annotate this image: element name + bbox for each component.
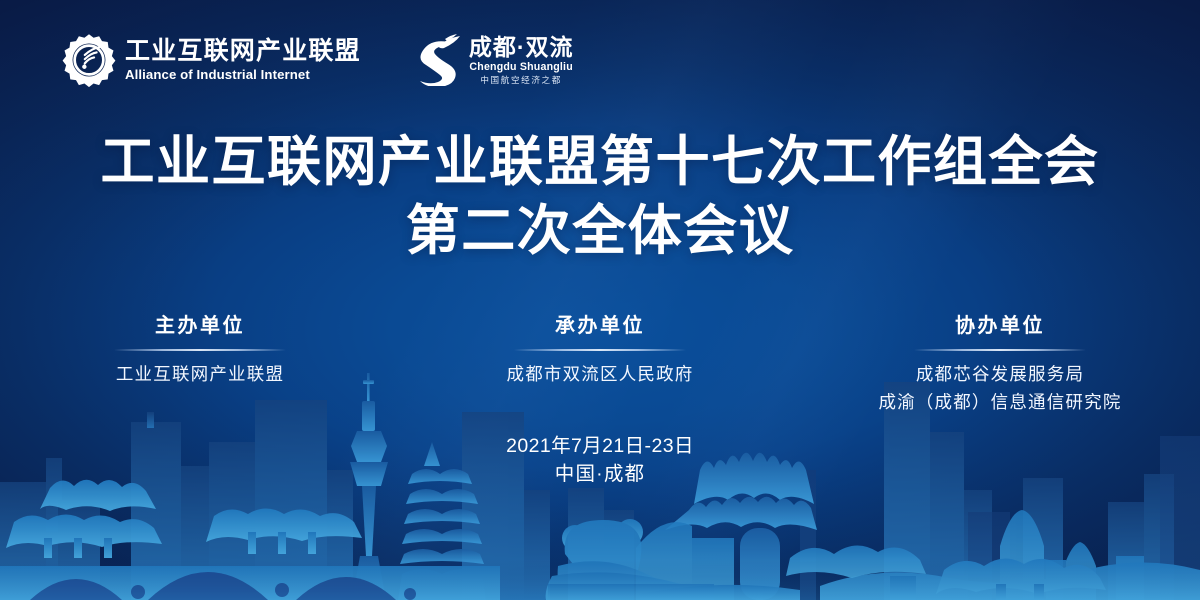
organizer-divider — [514, 349, 686, 351]
organizer-name: 成都市双流区人民政府 — [400, 360, 800, 388]
vignette-overlay — [0, 0, 1200, 600]
anshun-bridge-icon — [0, 566, 500, 600]
s-airplane-icon — [414, 34, 462, 86]
modern-highrises-icon — [636, 510, 1144, 600]
temple-roof-right-icon — [936, 558, 1106, 600]
panda-silhouette-icon — [546, 519, 731, 600]
organizer-column-co-organizer: 协办单位 成都芯谷发展服务局 成渝（成都）信息通信研究院 — [800, 314, 1200, 417]
organizer-divider — [914, 349, 1086, 351]
event-title-line-2: 第二次全体会议 — [0, 197, 1200, 266]
alliance-logo-cn: 工业互联网产业联盟 — [125, 39, 361, 64]
organizers-section: 主办单位 工业互联网产业联盟 承办单位 成都市双流区人民政府 协办单位 成都芯谷… — [0, 314, 1200, 417]
organizer-name: 成渝（成都）信息通信研究院 — [800, 388, 1200, 416]
organizer-role-label: 协办单位 — [800, 314, 1200, 338]
alliance-logo: 工业互联网产业联盟 Alliance of Industrial Interne… — [62, 33, 361, 87]
event-date: 2021年7月21日-23日 — [0, 432, 1200, 460]
alliance-logo-en: Alliance of Industrial Internet — [125, 68, 361, 81]
organizer-column-undertaker: 承办单位 成都市双流区人民政府 — [400, 314, 800, 417]
temple-roof-left-icon — [6, 480, 362, 558]
organizer-column-host: 主办单位 工业互联网产业联盟 — [0, 314, 400, 417]
gear-wifi-icon — [62, 33, 116, 87]
organizer-role-label: 主办单位 — [0, 314, 400, 338]
light-sheen-overlay — [0, 0, 1200, 600]
foreground-riverbank — [640, 562, 1200, 600]
event-title: 工业互联网产业联盟第十七次工作组全会 第二次全体会议 — [0, 128, 1200, 266]
organizer-divider — [114, 349, 286, 351]
event-location: 中国·成都 — [0, 460, 1200, 488]
shuangliu-logo-sub: 中国航空经济之都 — [480, 76, 562, 85]
shuangliu-logo: 成都·双流 Chengdu Shuangliu 中国航空经济之都 — [414, 34, 574, 86]
conference-banner: 工业互联网产业联盟 Alliance of Industrial Interne… — [0, 0, 1200, 600]
shuangliu-logo-cn: 成都·双流 — [469, 36, 574, 59]
event-title-line-1: 工业互联网产业联盟第十七次工作组全会 — [0, 128, 1200, 197]
logo-bar: 工业互联网产业联盟 Alliance of Industrial Interne… — [62, 33, 573, 87]
event-meta: 2021年7月21日-23日 中国·成都 — [0, 432, 1200, 489]
shuangliu-logo-en: Chengdu Shuangliu — [469, 62, 572, 73]
organizer-name: 工业互联网产业联盟 — [0, 360, 400, 388]
temple-roof-mid-icon — [786, 545, 926, 600]
organizer-role-label: 承办单位 — [400, 314, 800, 338]
organizer-name: 成都芯谷发展服务局 — [800, 360, 1200, 388]
